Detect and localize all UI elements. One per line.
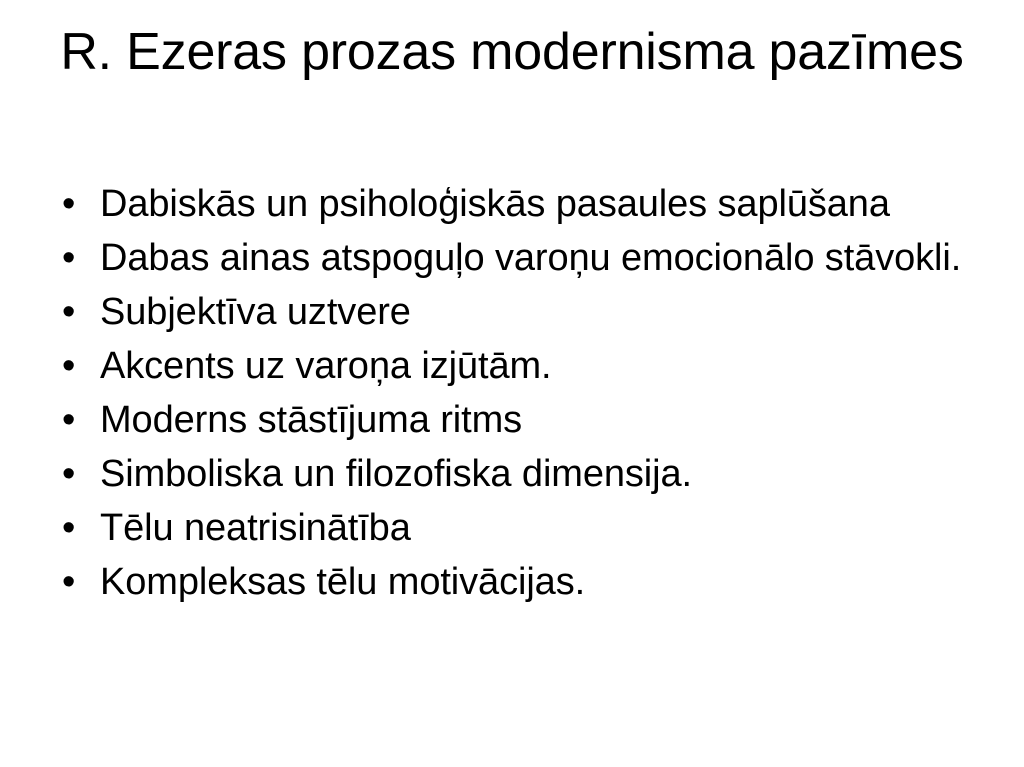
list-item: • Tēlu neatrisinātība [52, 502, 972, 554]
bullet-point-icon: • [62, 232, 86, 284]
list-item: • Dabiskās un psiholoģiskās pasaules sap… [52, 178, 972, 230]
list-item: • Kompleksas tēlu motivācijas. [52, 556, 972, 608]
bullet-list: • Dabiskās un psiholoģiskās pasaules sap… [52, 178, 972, 610]
list-item-label: Dabiskās un psiholoģiskās pasaules saplū… [100, 178, 972, 230]
bullet-point-icon: • [62, 394, 86, 446]
list-item: • Dabas ainas atspoguļo varoņu emocionāl… [52, 232, 972, 284]
bullet-point-icon: • [62, 448, 86, 500]
list-item-label: Subjektīva uztvere [100, 286, 972, 338]
list-item-label: Moderns stāstījuma ritms [100, 394, 972, 446]
bullet-point-icon: • [62, 340, 86, 392]
bullet-point-icon: • [62, 178, 86, 230]
list-item-label: Kompleksas tēlu motivācijas. [100, 556, 972, 608]
presentation-slide: R. Ezeras prozas modernisma pazīmes • Da… [0, 0, 1024, 767]
bullet-point-icon: • [62, 556, 86, 608]
list-item: • Akcents uz varoņa izjūtām. [52, 340, 972, 392]
list-item: • Subjektīva uztvere [52, 286, 972, 338]
bullet-point-icon: • [62, 502, 86, 554]
list-item: • Simboliska un filozofiska dimensija. [52, 448, 972, 500]
bullet-point-icon: • [62, 286, 86, 338]
list-item-label: Simboliska un filozofiska dimensija. [100, 448, 972, 500]
list-item-label: Dabas ainas atspoguļo varoņu emocionālo … [100, 232, 972, 284]
list-item-label: Tēlu neatrisinātība [100, 502, 972, 554]
list-item-label: Akcents uz varoņa izjūtām. [100, 340, 972, 392]
slide-title: R. Ezeras prozas modernisma pazīmes [60, 22, 964, 82]
list-item: • Moderns stāstījuma ritms [52, 394, 972, 446]
